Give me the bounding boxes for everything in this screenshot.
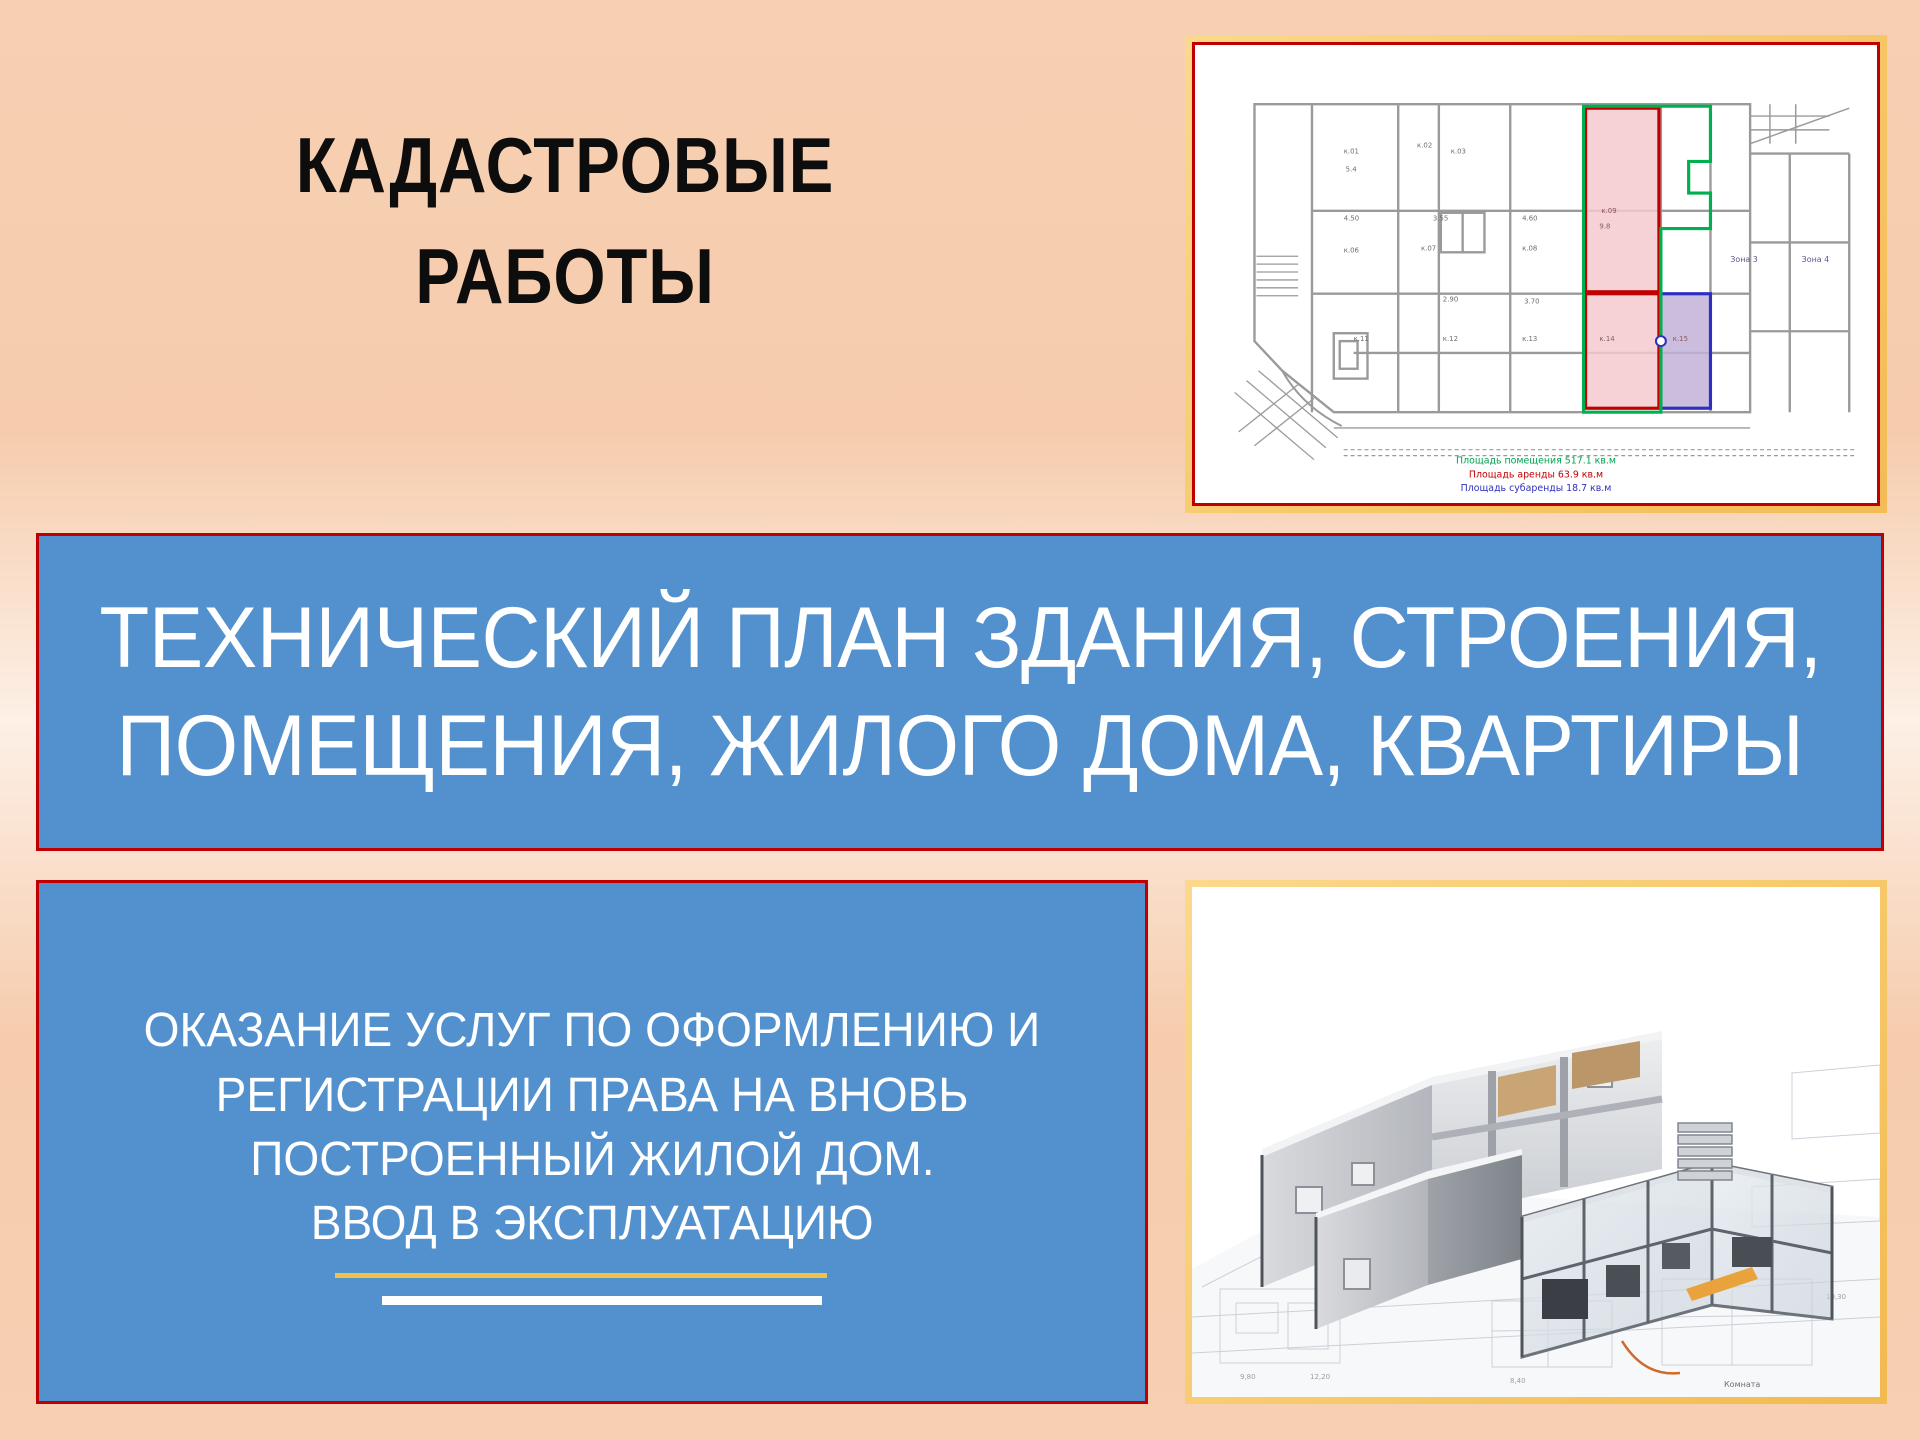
services-line-1: ОКАЗАНИЕ УСЛУГ ПО ОФОРМЛЕНИЮ И bbox=[144, 999, 1041, 1063]
plan-caption-sublease: Площадь субаренды 18.7 кв.м bbox=[1461, 483, 1612, 494]
svg-text:12,20: 12,20 bbox=[1310, 1373, 1330, 1381]
svg-text:к.09: к.09 bbox=[1601, 207, 1616, 215]
page-title-line-2: РАБОТЫ bbox=[225, 221, 904, 332]
svg-text:к.03: к.03 bbox=[1451, 148, 1466, 156]
floor-plan-card: к.015.4 к.02к.03 к.06к.07 к.08 к.11к.12 … bbox=[1185, 35, 1887, 513]
svg-text:к.14: к.14 bbox=[1599, 335, 1614, 343]
svg-text:к.15: к.15 bbox=[1673, 335, 1688, 343]
floor-plan-frame: к.015.4 к.02к.03 к.06к.07 к.08 к.11к.12 … bbox=[1192, 42, 1880, 506]
svg-text:Зона 4: Зона 4 bbox=[1802, 255, 1830, 264]
svg-text:к.07: к.07 bbox=[1421, 244, 1436, 252]
svg-text:3.55: 3.55 bbox=[1433, 215, 1448, 223]
building-render-card: 9,8012,20 8,4010,30 Комната bbox=[1185, 880, 1887, 1404]
svg-text:к.02: к.02 bbox=[1417, 142, 1432, 150]
plan-caption-area: Площадь помещения 517.1 кв.м bbox=[1456, 456, 1616, 467]
building-render-frame: 9,8012,20 8,4010,30 Комната bbox=[1192, 887, 1880, 1397]
plan-caption-rent: Площадь аренды 63.9 кв.м bbox=[1469, 469, 1603, 480]
building-render-drawing: 9,8012,20 8,4010,30 Комната bbox=[1192, 887, 1880, 1397]
svg-text:к.01: к.01 bbox=[1344, 148, 1359, 156]
services-line-4: ВВОД В ЭКСПЛУАТАЦИЮ bbox=[311, 1192, 874, 1256]
page-title-line-1: КАДАСТРОВЫЕ bbox=[225, 110, 904, 221]
svg-text:4.50: 4.50 bbox=[1344, 215, 1359, 223]
svg-text:2.90: 2.90 bbox=[1443, 296, 1458, 304]
svg-text:Зона 3: Зона 3 bbox=[1730, 255, 1758, 264]
svg-text:к.06: к.06 bbox=[1344, 246, 1359, 254]
svg-text:3.70: 3.70 bbox=[1524, 298, 1539, 306]
main-banner: ТЕХНИЧЕСКИЙ ПЛАН ЗДАНИЯ, СТРОЕНИЯ, ПОМЕЩ… bbox=[36, 533, 1884, 851]
gold-underline bbox=[335, 1273, 827, 1278]
svg-text:4.60: 4.60 bbox=[1522, 215, 1537, 223]
services-line-3: ПОСТРОЕННЫЙ ЖИЛОЙ ДОМ. bbox=[250, 1128, 934, 1192]
floor-plan-drawing: к.015.4 к.02к.03 к.06к.07 к.08 к.11к.12 … bbox=[1195, 45, 1877, 503]
svg-text:к.13: к.13 bbox=[1522, 335, 1537, 343]
svg-text:5.4: 5.4 bbox=[1346, 165, 1357, 173]
services-line-2: РЕГИСТРАЦИИ ПРАВА НА ВНОВЬ bbox=[216, 1064, 969, 1128]
svg-text:к.12: к.12 bbox=[1443, 335, 1458, 343]
render-room-label: Комната bbox=[1724, 1380, 1760, 1389]
white-underline bbox=[382, 1296, 822, 1305]
svg-text:к.11: к.11 bbox=[1354, 335, 1369, 343]
banner-line-2: ПОМЕЩЕНИЯ, ЖИЛОГО ДОМА, КВАРТИРЫ bbox=[116, 692, 1803, 800]
banner-line-1: ТЕХНИЧЕСКИЙ ПЛАН ЗДАНИЯ, СТРОЕНИЯ, bbox=[99, 584, 1821, 692]
slide-canvas: КАДАСТРОВЫЕ РАБОТЫ bbox=[0, 0, 1920, 1440]
svg-text:8,40: 8,40 bbox=[1510, 1377, 1526, 1385]
svg-text:9,80: 9,80 bbox=[1240, 1373, 1256, 1381]
page-title: КАДАСТРОВЫЕ РАБОТЫ bbox=[225, 110, 904, 332]
svg-text:9.8: 9.8 bbox=[1599, 223, 1610, 231]
decorative-rules bbox=[39, 1273, 1145, 1305]
services-box: ОКАЗАНИЕ УСЛУГ ПО ОФОРМЛЕНИЮ И РЕГИСТРАЦ… bbox=[36, 880, 1148, 1404]
svg-text:к.08: к.08 bbox=[1522, 244, 1537, 252]
